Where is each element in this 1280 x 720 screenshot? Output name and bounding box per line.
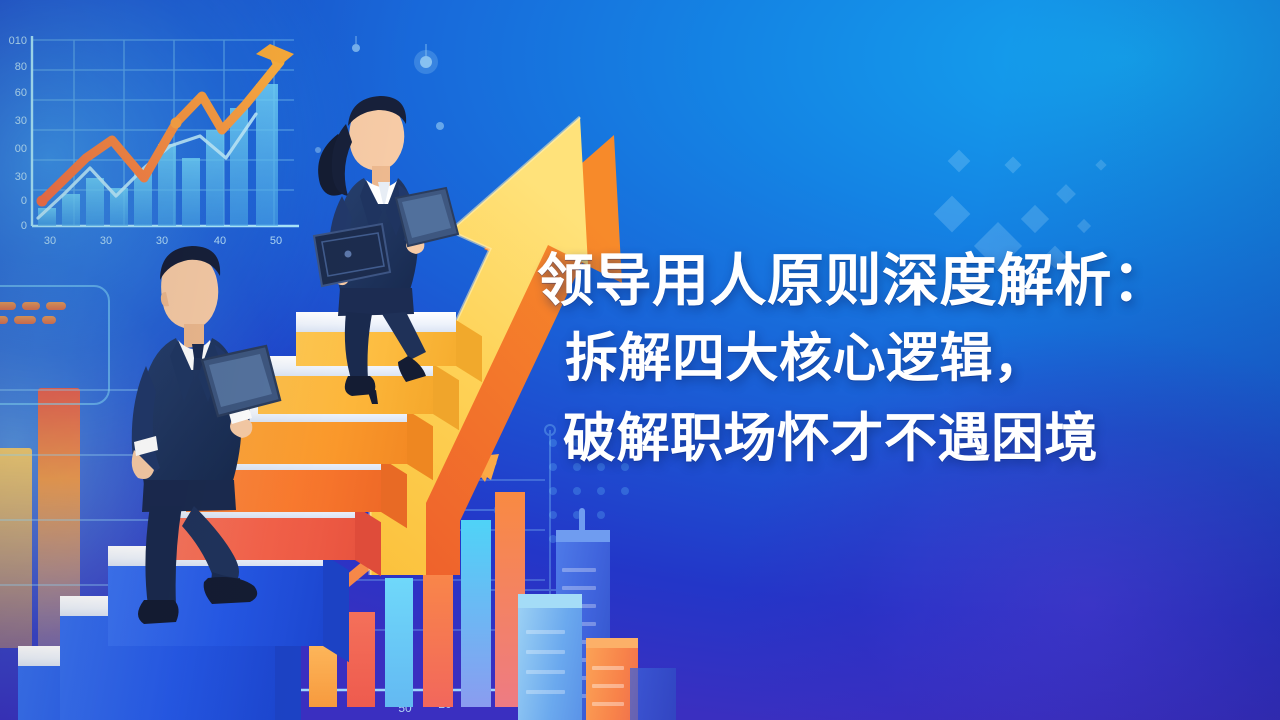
- headline-block: 领导用人原则深度解析： 拆解四大核心逻辑， 破解职场怀才不遇困境: [533, 243, 1253, 479]
- poster-canvas: 0108060 300030 00 303030 4050: [0, 0, 1280, 720]
- headline-line-2: 拆解四大核心逻辑，: [565, 319, 1253, 399]
- headline-line-1: 领导用人原则深度解析：: [537, 243, 1253, 319]
- headline-line-3: 破解职场怀才不遇困境: [563, 399, 1253, 479]
